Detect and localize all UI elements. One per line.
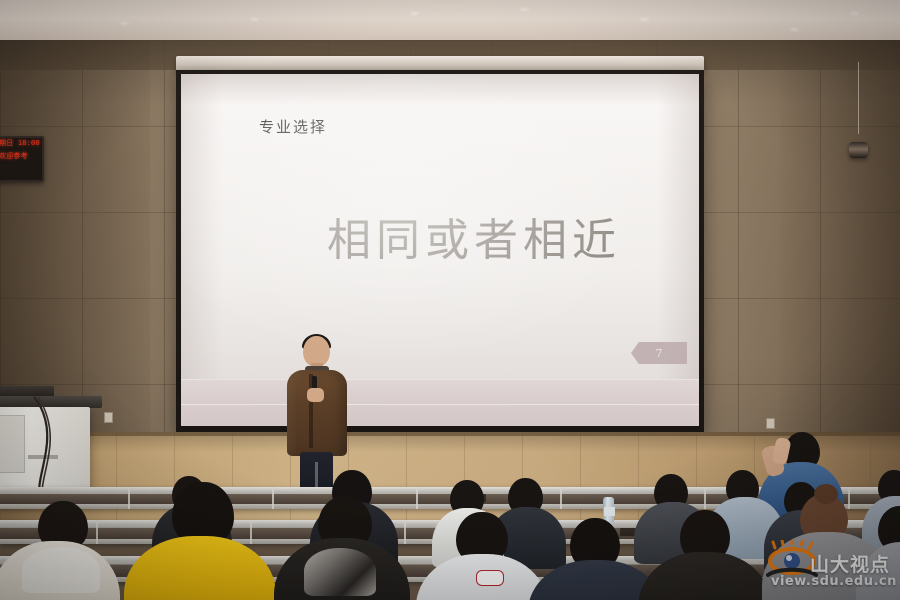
slide-page-number: 7 (631, 342, 687, 364)
projected-slide: 专业选择 相同或者相近 7 (181, 74, 699, 426)
ceiling (0, 0, 900, 42)
watermark-brand: 山大视点 (810, 550, 890, 577)
led-sign-line-1: 期日 18:00 (0, 138, 42, 148)
wall-speaker-icon (849, 142, 868, 158)
presenter-jacket (287, 370, 347, 456)
lecture-hall-photo: 期日 18:00 欢迎参考 专业选择 相同或者相近 7 (0, 0, 900, 600)
watermark-url: view.sdu.edu.cn (771, 574, 897, 589)
slide-kicker-text: 专业选择 (259, 116, 327, 137)
wall-right-shading (780, 40, 900, 490)
watermark-overlay: 山大视点 view.sdu.edu.cn (766, 536, 892, 594)
slide-footer-band (181, 379, 699, 426)
water-bottle (604, 507, 615, 516)
led-scrolling-sign: 期日 18:00 欢迎参考 (0, 136, 44, 182)
led-sign-line-2: 欢迎参考 (0, 151, 42, 161)
cabinet-cable (28, 395, 54, 500)
presenter-hands (307, 388, 324, 402)
hoodie-logo-icon (476, 570, 504, 586)
slide-footer-rule (181, 404, 699, 405)
wall-outlet-right (766, 418, 775, 429)
wall-outlet-left (104, 412, 113, 423)
cabinet-panel (0, 415, 25, 473)
slide-headline-text: 相同或者相近 (327, 204, 621, 268)
speaker-suspension-wire (858, 62, 859, 134)
projection-screen: 专业选择 相同或者相近 7 (176, 70, 704, 432)
